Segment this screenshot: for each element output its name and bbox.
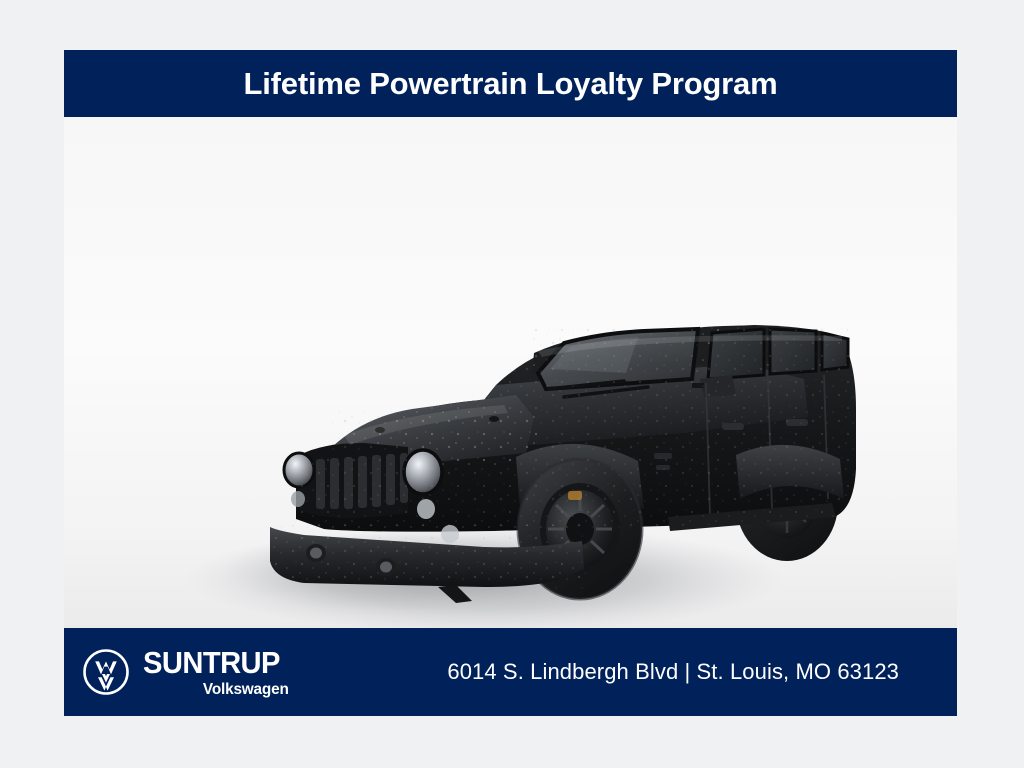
promo-banner: Lifetime Powertrain Loyalty Program bbox=[64, 50, 957, 117]
page-root: Lifetime Powertrain Loyalty Program bbox=[0, 0, 1024, 768]
vehicle-promo-card: Lifetime Powertrain Loyalty Program bbox=[64, 50, 957, 716]
vehicle-photo-canvas bbox=[64, 117, 957, 628]
dealer-wordmark: SUNTRUP Volkswagen bbox=[143, 647, 289, 698]
dealer-address: 6014 S. Lindbergh Blvd | St. Louis, MO 6… bbox=[447, 659, 927, 685]
dealer-brand[interactable]: SUNTRUP Volkswagen bbox=[82, 647, 289, 698]
dealer-franchise: Volkswagen bbox=[149, 682, 289, 698]
dealer-footer: SUNTRUP Volkswagen 6014 S. Lindbergh Blv… bbox=[64, 628, 957, 716]
promo-banner-title: Lifetime Powertrain Loyalty Program bbox=[244, 68, 778, 99]
vehicle-photo[interactable] bbox=[64, 117, 957, 628]
volkswagen-logo-icon bbox=[82, 648, 130, 696]
dealer-name: SUNTRUP bbox=[143, 647, 280, 678]
